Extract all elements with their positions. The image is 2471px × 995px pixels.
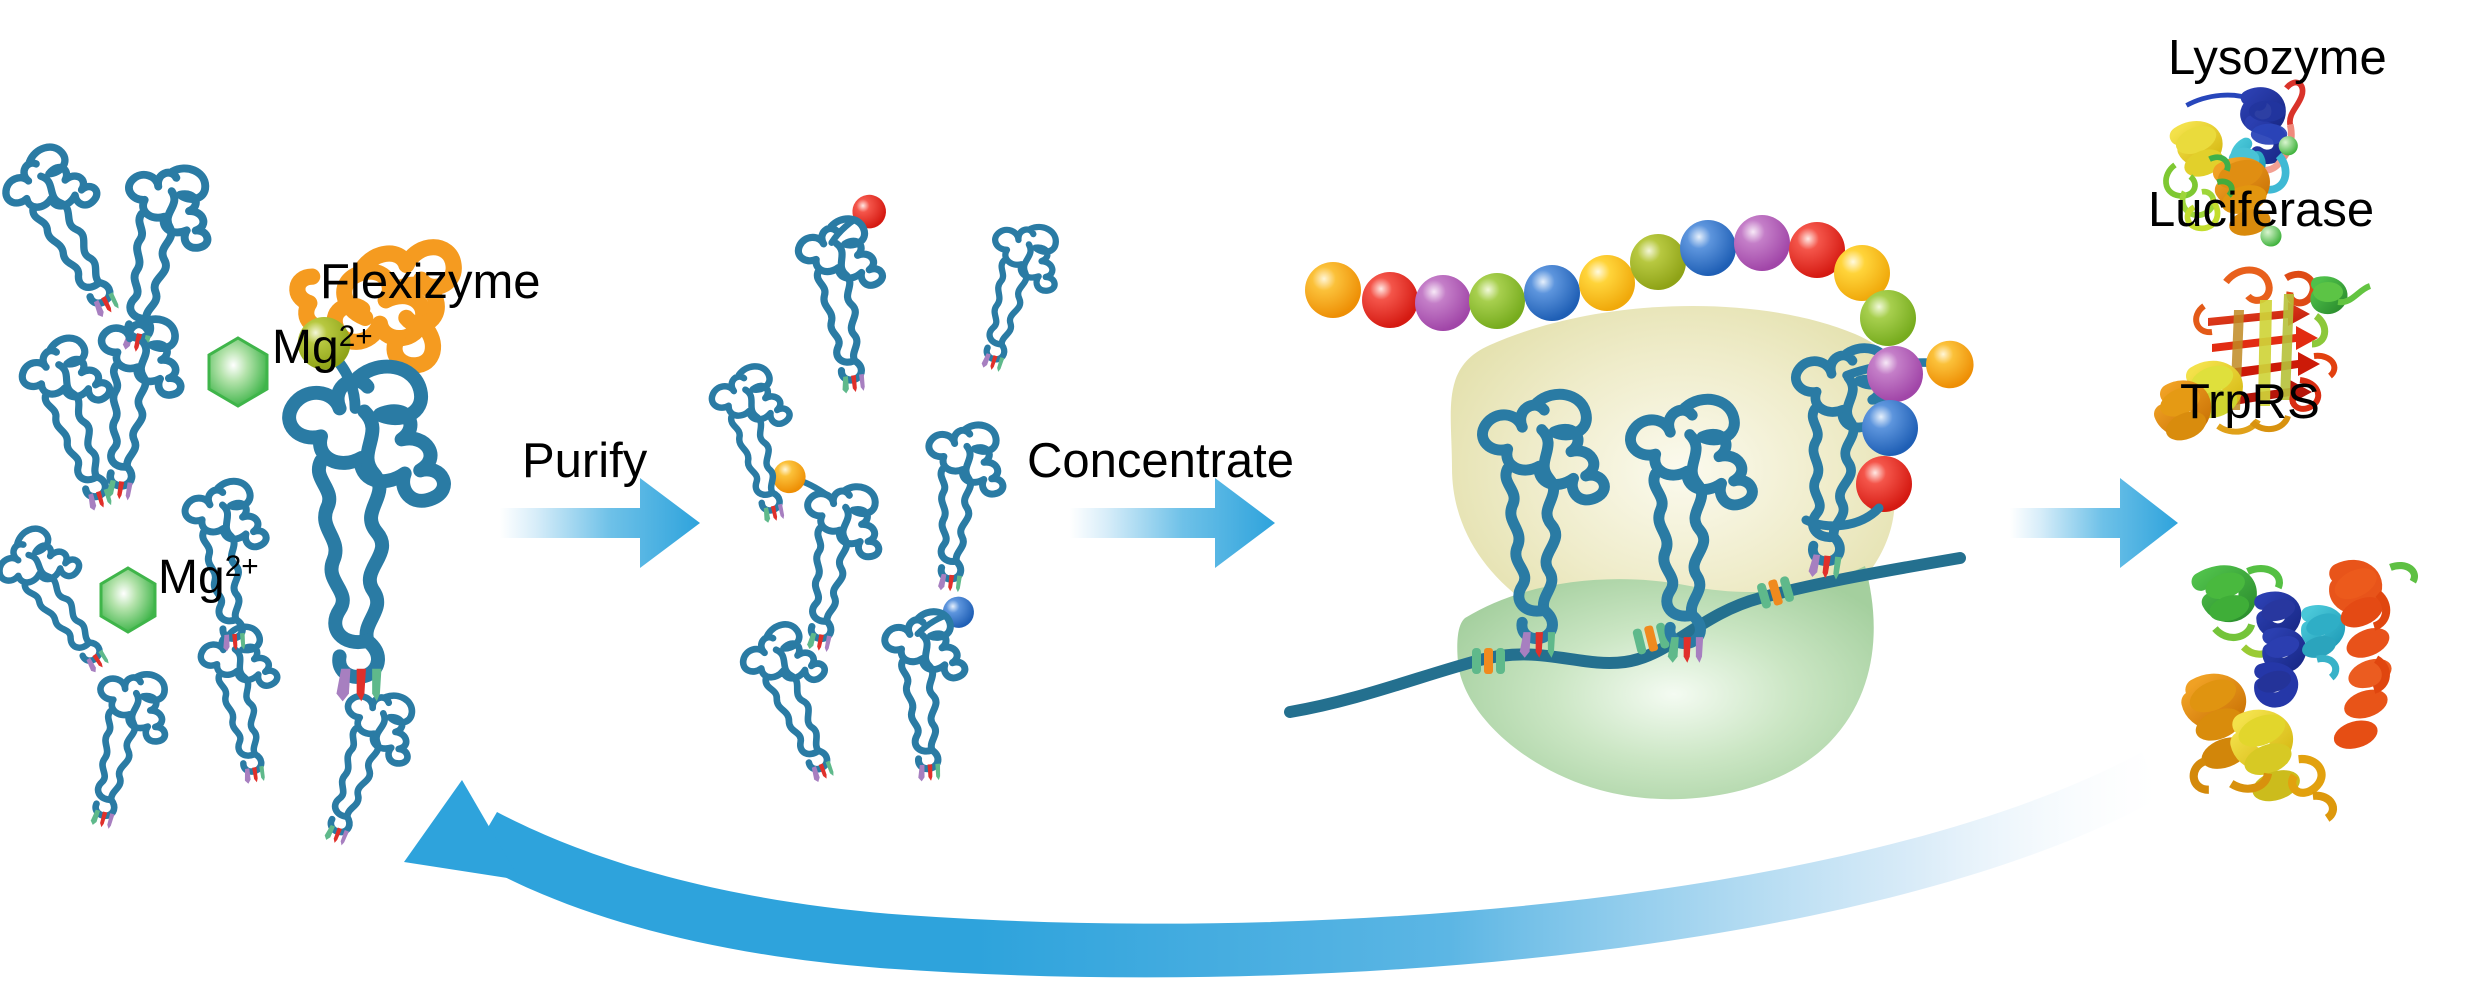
trprs-label: TrpRS [2180,378,2320,427]
lysozyme-label: Lysozyme [2168,34,2387,83]
luciferase-label: Luciferase [2148,186,2374,235]
flexizyme-label: Flexizyme [320,258,541,307]
magnesium-label-top-text: Mg [272,321,339,374]
magnesium-label-bottom: Mg2+ [158,552,259,602]
magnesium-charge-bottom: 2+ [225,550,259,583]
concentrate-label: Concentrate [1027,437,1294,486]
magnesium-label-top: Mg2+ [272,322,373,372]
magnesium-charge-top: 2+ [339,320,373,353]
protein-structures-layer [0,0,2471,995]
trprs-structure [2185,562,2415,818]
figure-canvas: Flexizyme Mg2+ Mg2+ Purify Concentrate L… [0,0,2471,995]
purify-label: Purify [522,437,647,486]
magnesium-label-bottom-text: Mg [158,551,225,604]
